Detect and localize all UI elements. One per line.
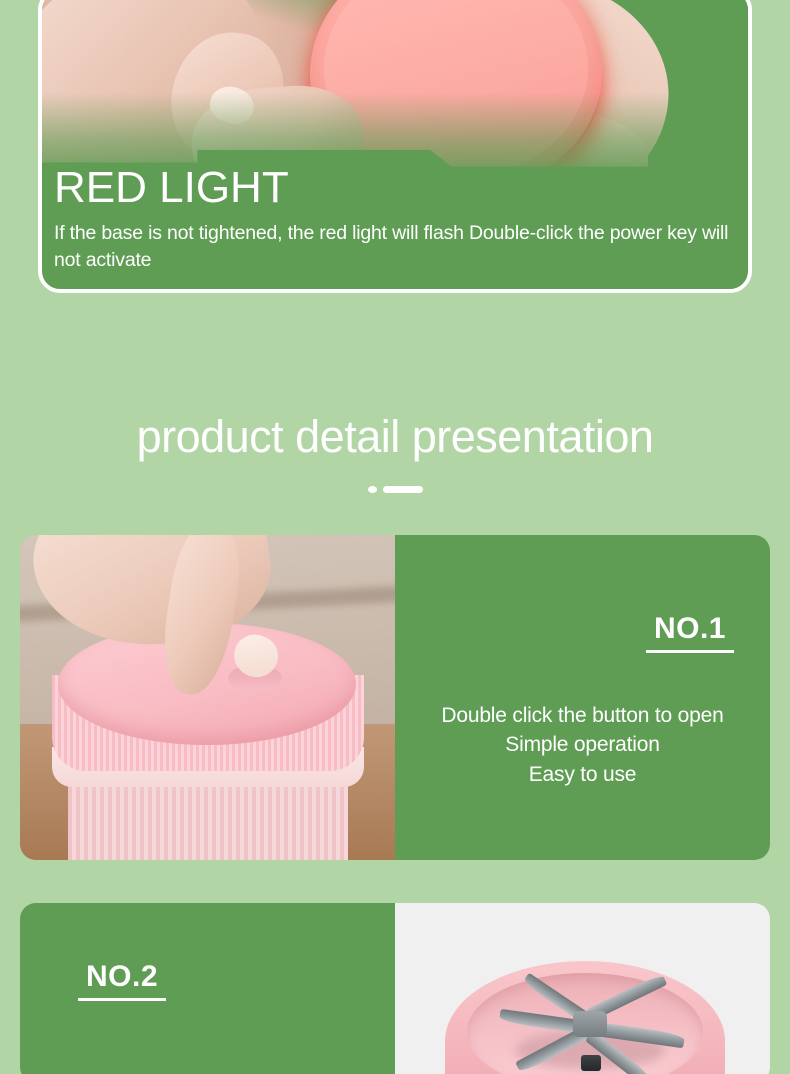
feature-photo-no1 [20, 535, 395, 860]
feature-number-no2: NO.2 [78, 961, 166, 1001]
red-light-title: RED LIGHT [54, 166, 734, 210]
feature-number-no1: NO.1 [646, 613, 734, 653]
feature-card-no2: NO.2 [20, 903, 770, 1074]
no1-label-wrap: NO.1 [395, 535, 770, 653]
red-light-card: RED LIGHT If the base is not tightened, … [38, 0, 752, 293]
red-light-text-block: RED LIGHT If the base is not tightened, … [42, 166, 748, 289]
product-detail-page: RED LIGHT If the base is not tightened, … [0, 0, 790, 1074]
section-title: product detail presentation [0, 412, 790, 462]
blade-screw [581, 1055, 601, 1071]
feature-line: Double click the button to open [405, 701, 760, 731]
title-divider [0, 486, 790, 493]
blender-cup-body [68, 781, 348, 860]
red-light-description: If the base is not tightened, the red li… [54, 220, 734, 275]
feature-text-no2: NO.2 [20, 903, 395, 1074]
divider-dot-icon [368, 486, 377, 493]
no2-label-wrap: NO.2 [20, 903, 395, 1001]
feature-photo-no2 [395, 903, 770, 1074]
feature-line: Easy to use [405, 760, 760, 790]
feature-line: Simple operation [405, 730, 760, 760]
feature-lines-no1: Double click the button to open Simple o… [395, 701, 770, 790]
feature-card-no1: NO.1 Double click the button to open Sim… [20, 535, 770, 860]
feature-text-no1: NO.1 Double click the button to open Sim… [395, 535, 770, 860]
blade-hub [573, 1011, 607, 1037]
divider-dash-icon [383, 486, 423, 493]
